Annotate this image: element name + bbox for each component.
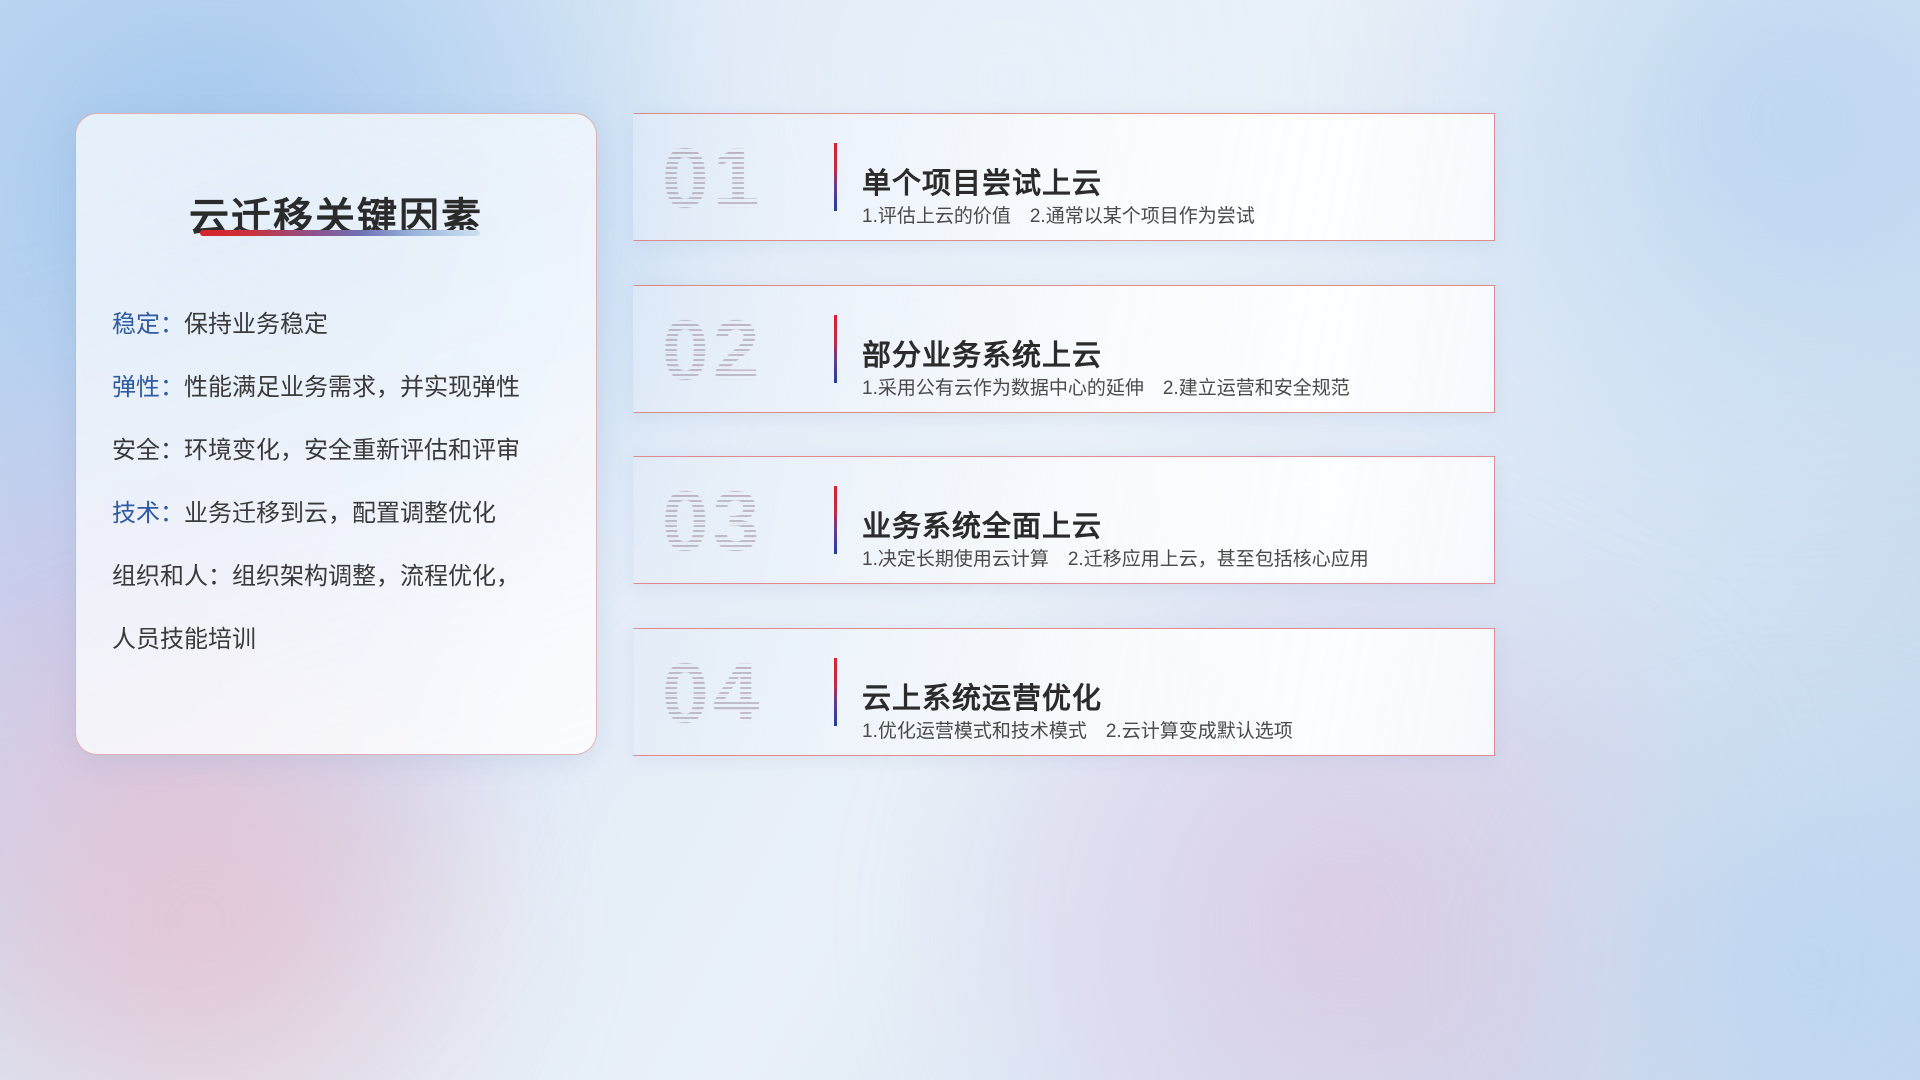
stage-number-04-overlay: 04 — [662, 647, 822, 739]
stage-number-01-overlay: 01 — [662, 132, 822, 224]
stage-accent-bar — [834, 315, 837, 383]
list-item-text: 人员技能培训 — [112, 626, 256, 653]
stage-title: 单个项目尝试上云 — [862, 160, 1102, 202]
stage-number-03-overlay: 03 — [662, 475, 822, 567]
stage-accent-bar — [834, 486, 837, 554]
stage-title: 部分业务系统上云 — [862, 332, 1102, 374]
list-item-key: 组织和人： — [112, 563, 232, 590]
stage-subtitle: 1.评估上云的价值 2.通常以某个项目作为尝试 — [862, 201, 1255, 228]
stage-subtitle: 1.采用公有云作为数据中心的延伸 2.建立运营和安全规范 — [862, 373, 1350, 400]
stage-title: 业务系统全面上云 — [862, 503, 1102, 545]
panel-title-underline — [200, 230, 480, 236]
stage-subtitle: 1.优化运营模式和技术模式 2.云计算变成默认选项 — [862, 716, 1293, 743]
list-item-text: 环境变化，安全重新评估和评审 — [184, 437, 520, 464]
list-item-key: 安全： — [112, 437, 184, 464]
list-item: 稳定：保持业务稳定 — [112, 310, 576, 340]
stage-subtitle: 1.决定长期使用云计算 2.迁移应用上云，甚至包括核心应用 — [862, 544, 1369, 571]
list-item: 人员技能培训 — [112, 625, 576, 655]
list-item: 安全：环境变化，安全重新评估和评审 — [112, 436, 576, 466]
list-item-text: 业务迁移到云，配置调整优化 — [184, 500, 496, 527]
list-item: 技术：业务迁移到云，配置调整优化 — [112, 499, 576, 529]
key-factors-panel: 云迁移关键因素 稳定：保持业务稳定 弹性：性能满足业务需求，并实现弹性 安全：环… — [75, 113, 597, 755]
key-factors-list: 稳定：保持业务稳定 弹性：性能满足业务需求，并实现弹性 安全：环境变化，安全重新… — [112, 310, 576, 655]
stage-accent-bar — [834, 143, 837, 211]
stage-card-04[interactable]: 04 04 云上系统运营优化 1.优化运营模式和技术模式 2.云计算变成默认选项 — [633, 628, 1495, 756]
stage-accent-bar — [834, 658, 837, 726]
stage-number-02-overlay: 02 — [662, 304, 822, 396]
list-item-text: 组织架构调整，流程优化， — [232, 563, 520, 590]
list-item-key: 技术： — [112, 500, 184, 527]
list-item: 弹性：性能满足业务需求，并实现弹性 — [112, 373, 576, 403]
stage-card-03[interactable]: 03 03 业务系统全面上云 1.决定长期使用云计算 2.迁移应用上云，甚至包括… — [633, 456, 1495, 584]
stage-title: 云上系统运营优化 — [862, 675, 1102, 717]
list-item-text: 性能满足业务需求，并实现弹性 — [184, 374, 520, 401]
list-item-key: 弹性： — [112, 374, 184, 401]
list-item-key: 稳定： — [112, 311, 184, 338]
stage-card-02[interactable]: 02 02 部分业务系统上云 1.采用公有云作为数据中心的延伸 2.建立运营和安… — [633, 285, 1495, 413]
list-item-text: 保持业务稳定 — [184, 311, 328, 338]
list-item: 组织和人：组织架构调整，流程优化， — [112, 562, 576, 592]
stage-card-01[interactable]: 01 01 单个项目尝试上云 1.评估上云的价值 2.通常以某个项目作为尝试 — [633, 113, 1495, 241]
